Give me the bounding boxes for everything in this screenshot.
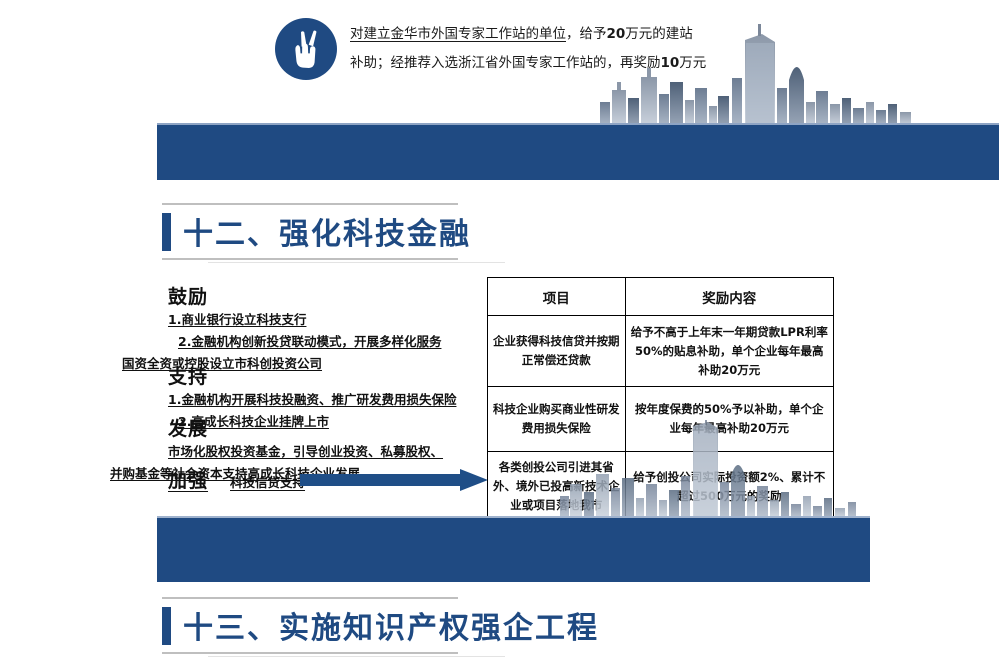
page-title: 十二、强化科技金融 [183, 209, 471, 253]
section-heading-13: 十三、实施知识产权强企工程 [157, 597, 857, 658]
callout-line1-rest-a: ，给予 [566, 26, 607, 42]
heading-rule-a [162, 258, 458, 260]
callout-line1-underlined: 对建立金华市外国专家工作站的单位 [350, 26, 566, 42]
callout-text: 对建立金华市外国专家工作站的单位，给予20万元的建站 补助；经推荐入选浙江省外国… [350, 20, 730, 78]
measure-line: 市场化股权投资基金，引导创业投资、私募股权、 [168, 441, 443, 463]
callout-line2-a: 补助；经推荐入选浙江省外国专家工作站的，再奖励 [350, 55, 661, 71]
table-cell-award: 按年度保费的50%予以补助，单个企业每年最高补助20万元 [625, 387, 833, 452]
victory-hand-icon [275, 18, 337, 80]
measure-subtitle: 科技信贷支持 [230, 466, 305, 491]
page-title-secondary: 十三、实施知识产权强企工程 [183, 603, 599, 647]
table-cell-item: 企业获得科技信贷并按期正常偿还贷款 [488, 316, 626, 387]
heading-rule-top [162, 203, 458, 205]
measure-line: 1.金融机构开展科技投融资、推广研发费用损失保险 [168, 389, 456, 411]
heading-rule-a [162, 652, 458, 654]
slide-page: 对建立金华市外国专家工作站的单位，给予20万元的建站 补助；经推荐入选浙江省外国… [0, 0, 999, 658]
table-header-item: 项目 [488, 278, 626, 316]
table-cell-item: 各类创投公司引进其省外、境外已投高新技术企业或项目落地我市 [488, 452, 626, 522]
measure-keyword: 鼓励 [168, 282, 222, 309]
measure-group-strengthen: 加强科技信贷支持 [168, 466, 305, 493]
table-header-award: 奖励内容 [625, 278, 833, 316]
table-header-row: 项目 奖励内容 [488, 278, 834, 316]
right-arrow-icon [300, 469, 488, 491]
measure-keyword: 加强 [168, 466, 230, 493]
callout-line1-rest-b: 万元的建站 [625, 26, 693, 42]
measure-keyword: 发展 [168, 414, 228, 441]
table-row: 企业获得科技信贷并按期正常偿还贷款 给予不高于上年末一年期贷款LPR利率50%的… [488, 316, 834, 387]
top-blue-band [157, 125, 999, 180]
callout-line1-amount: 20 [607, 26, 626, 42]
callout-line2-b: 万元 [679, 55, 706, 71]
heading-rule-b [208, 262, 505, 263]
table-row: 科技企业购买商业性研发费用损失保险 按年度保费的50%予以补助，单个企业每年最高… [488, 387, 834, 452]
table-row: 各类创投公司引进其省外、境外已投高新技术企业或项目落地我市 给予创投公司实际投资… [488, 452, 834, 522]
heading-accent-bar [162, 607, 171, 645]
awards-table: 项目 奖励内容 企业获得科技信贷并按期正常偿还贷款 给予不高于上年末一年期贷款L… [487, 277, 834, 522]
measure-line: 2.金融机构创新投贷联动模式，开展多样化服务 [168, 331, 438, 353]
measure-line: 1.商业银行设立科技支行 [168, 309, 438, 331]
callout-line2-amount: 10 [661, 55, 680, 71]
table-cell-award: 给予创投公司实际投资额2%、累计不超过500万元的奖励 [625, 452, 833, 522]
mid-blue-band [157, 518, 870, 582]
heading-rule-top [162, 597, 458, 599]
header-callout: 对建立金华市外国专家工作站的单位，给予20万元的建站 补助；经推荐入选浙江省外国… [275, 18, 725, 94]
section-heading-12: 十二、强化科技金融 [157, 203, 857, 265]
table-cell-award: 给予不高于上年末一年期贷款LPR利率50%的贴息补助，单个企业每年最高补助20万… [625, 316, 833, 387]
measure-keyword: 支持 [168, 362, 222, 389]
heading-rule-b [208, 656, 505, 657]
table-cell-item: 科技企业购买商业性研发费用损失保险 [488, 387, 626, 452]
heading-accent-bar [162, 213, 171, 251]
